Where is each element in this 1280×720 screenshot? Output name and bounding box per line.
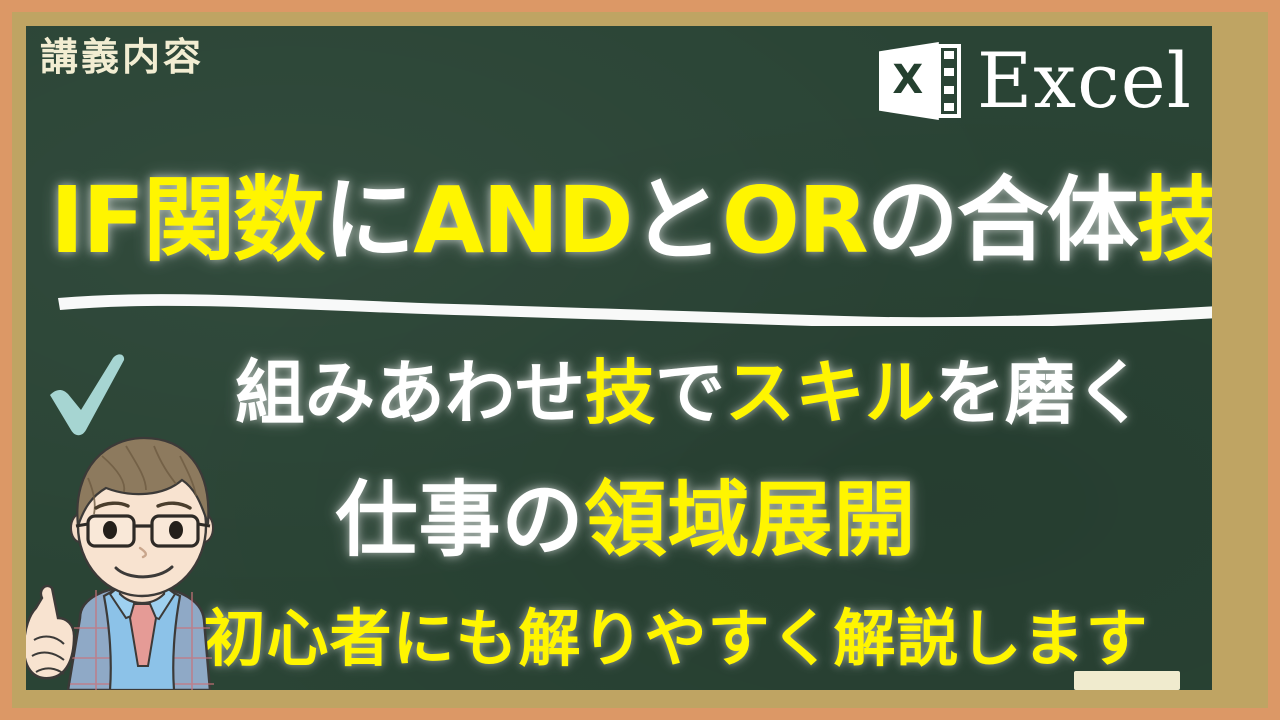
section-kicker-label: 講義内容 — [40, 38, 204, 76]
headline-seg-1: IF関数 — [50, 167, 323, 274]
bullet-text: 組みあわせ技でスキルを磨く — [140, 357, 1212, 431]
youtube-thumbnail-slide: 講義内容 X Excel IF関数にANDとORの合体技 — [0, 0, 1280, 720]
chalk-stick — [1074, 671, 1180, 690]
headline-seg-2: に — [323, 167, 413, 274]
headline-seg-4: と — [632, 167, 722, 274]
excel-logo-grid-bar — [944, 103, 954, 111]
chalkboard: 講義内容 X Excel IF関数にANDとORの合体技 — [26, 26, 1212, 690]
bullet-seg-2: 技 — [585, 352, 655, 434]
presenter-glasses-temple-right — [198, 524, 210, 526]
presenter-illustration — [26, 422, 258, 690]
bullet-seg-1: 組みあわせ — [235, 352, 585, 434]
presenter-eye-right — [169, 521, 183, 539]
headline-seg-5: OR — [722, 167, 867, 274]
headline-seg-6: の合体 — [867, 167, 1137, 274]
presenter-glasses-temple-left — [76, 524, 88, 526]
chalk-underline-stroke — [58, 294, 1212, 326]
excel-logo-grid-bar — [944, 51, 954, 59]
headline: IF関数にANDとORの合体技 — [50, 172, 1202, 270]
chalk-underline — [54, 284, 1212, 326]
subheadline-seg-2: 領域展開 — [585, 473, 917, 568]
headline-seg-3: AND — [413, 167, 632, 274]
bullet-seg-4: スキル — [725, 352, 935, 434]
excel-wordmark: Excel — [977, 43, 1192, 119]
excel-logo-grid-bar — [944, 68, 954, 76]
bullet-seg-5: を磨く — [935, 352, 1145, 434]
presenter-eye-left — [103, 521, 117, 539]
excel-logo-grid-bar — [944, 86, 954, 94]
excel-logo-grid-bars — [937, 44, 961, 118]
tagline: 初心者にも解りやすく解説します — [146, 606, 1206, 671]
excel-logo-icon: X — [879, 38, 961, 124]
presenter-pointing-hand — [26, 586, 74, 678]
bullet-seg-3: で — [655, 352, 725, 434]
excel-brand-lockup: X Excel — [879, 38, 1192, 124]
subheadline-seg-1: 仕事の — [335, 473, 584, 568]
headline-seg-7: 技 — [1137, 167, 1212, 274]
excel-logo-x-letter: X — [885, 60, 931, 100]
